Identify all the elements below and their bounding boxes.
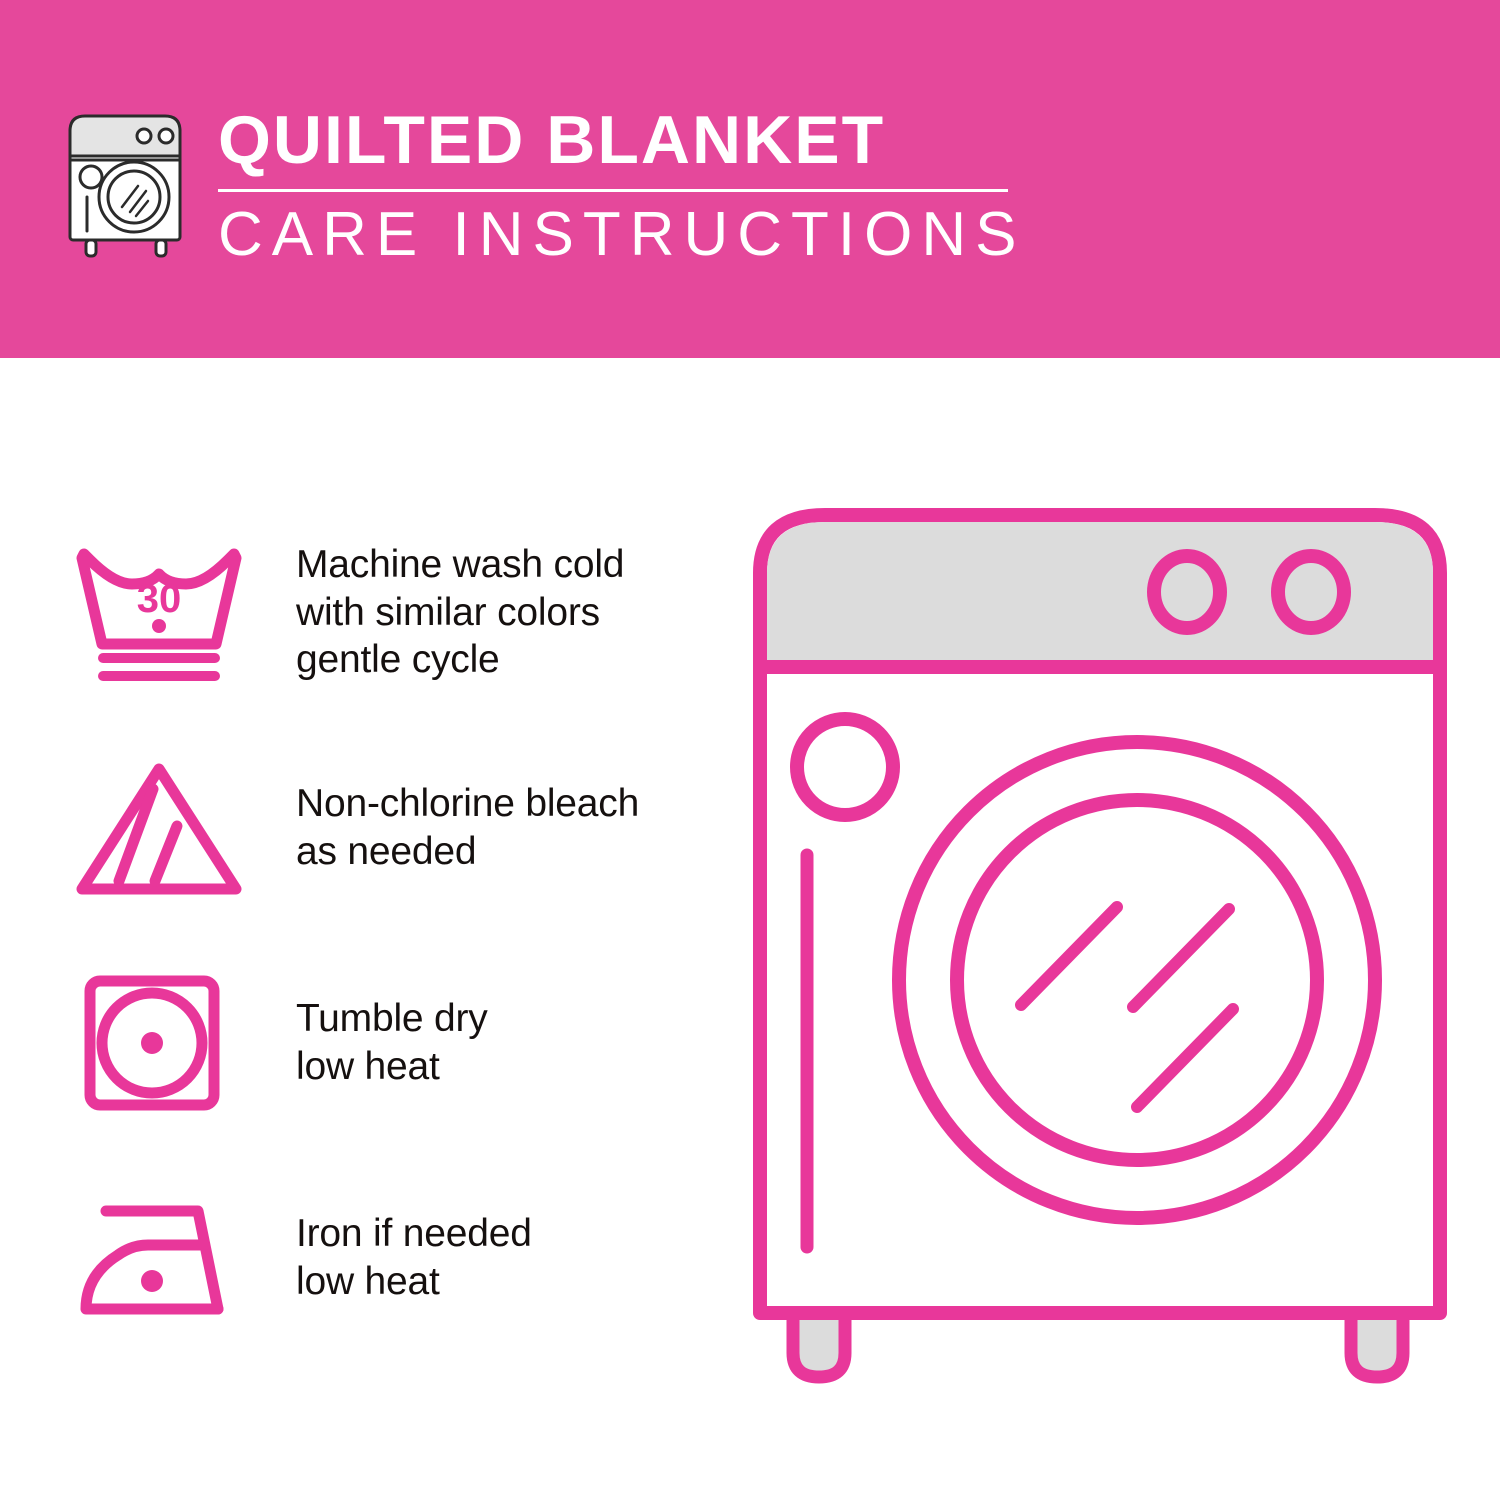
- tumble-dry-low-icon: [70, 968, 270, 1118]
- page-title: QUILTED BLANKET: [218, 106, 1018, 175]
- header-title-block: QUILTED BLANKET CARE INSTRUCTIONS: [218, 106, 1018, 267]
- wash-tub-30-icon: 30: [70, 538, 270, 688]
- instruction-list: 30 Machine wash cold with similar colors…: [70, 505, 710, 1365]
- instruction-label-tumble-dry: Tumble dry low heat: [296, 995, 488, 1090]
- instruction-label-wash: Machine wash cold with similar colors ge…: [296, 541, 624, 684]
- iron-low-heat-icon: [70, 1183, 270, 1333]
- instruction-item-bleach: Non-chlorine bleach as needed: [70, 720, 710, 935]
- page-subtitle: CARE INSTRUCTIONS: [218, 202, 1018, 267]
- instruction-item-tumble-dry: Tumble dry low heat: [70, 935, 710, 1150]
- instruction-label-bleach: Non-chlorine bleach as needed: [296, 780, 639, 875]
- instruction-item-iron: Iron if needed low heat: [70, 1150, 710, 1365]
- header-banner: QUILTED BLANKET CARE INSTRUCTIONS: [0, 0, 1500, 358]
- washing-machine-icon: [62, 104, 202, 264]
- instruction-label-iron: Iron if needed low heat: [296, 1210, 532, 1305]
- front-load-washing-machine-illustration: [745, 495, 1455, 1425]
- instruction-item-wash: 30 Machine wash cold with similar colors…: [70, 505, 710, 720]
- title-divider: [218, 189, 1008, 192]
- non-chlorine-bleach-triangle-icon: [70, 753, 270, 903]
- wash-temperature-label: 30: [137, 577, 182, 621]
- care-instructions-infographic: QUILTED BLANKET CARE INSTRUCTIONS 30: [0, 0, 1500, 1500]
